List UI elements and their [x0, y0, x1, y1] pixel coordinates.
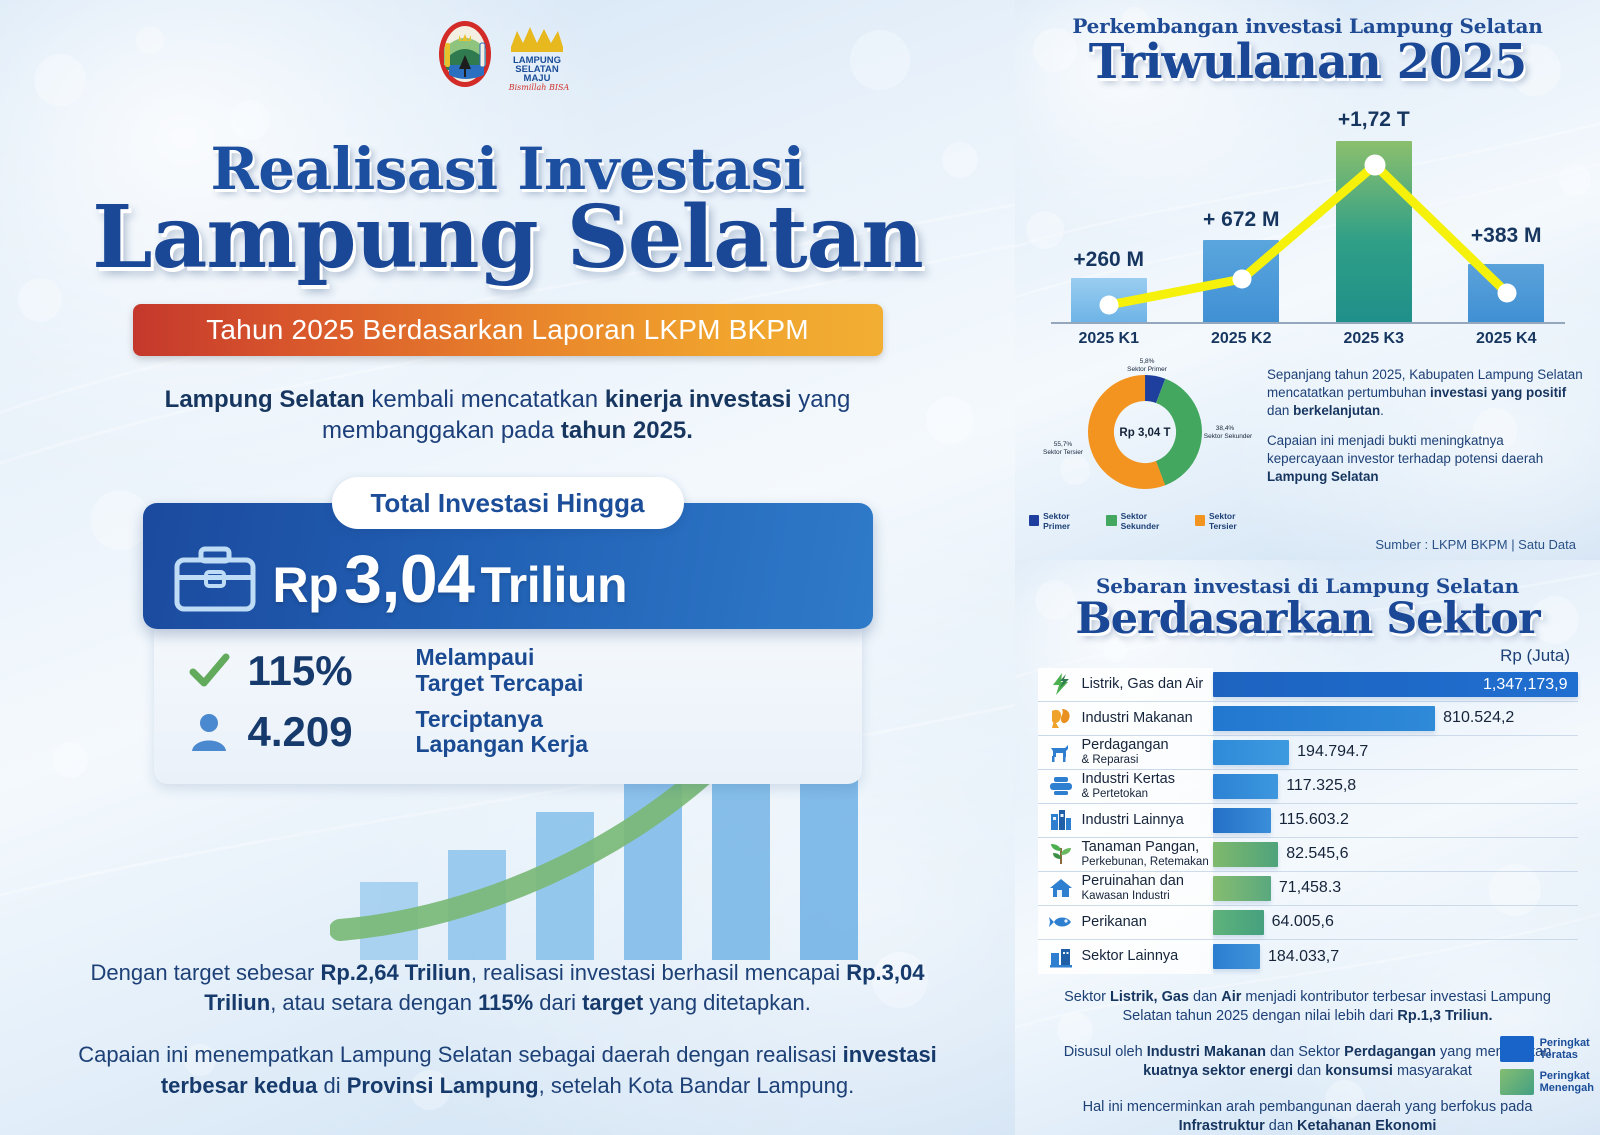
sector-bar-wrap: 810.524,2 [1213, 702, 1578, 735]
table-row: Industri Makanan 810.524,2 [1038, 702, 1578, 736]
sector-name: Sektor Lainnya [1082, 949, 1179, 965]
sector-title: Berdasarkan Sektor [1015, 598, 1600, 642]
sector-value: 82.545,6 [1286, 845, 1348, 863]
sector-bar [1213, 706, 1436, 731]
lampung-selatan-crest-icon [437, 19, 493, 89]
sector-name-line-1: Peruinahan dan [1082, 873, 1184, 889]
logo-row: LAMPUNG SELATAN MAJU Bismillah BISA [0, 0, 1015, 92]
sector-name: Perdagangan & Reparasi [1082, 738, 1169, 766]
sector-bar [1213, 842, 1279, 867]
title-line-2: Lampung Selatan [0, 194, 1015, 282]
sector-caption: Industri Makanan [1038, 702, 1213, 735]
sector-name-line-1: Listrik, Gas dan Air [1082, 676, 1204, 692]
legend-label: Peringkat Teratas [1540, 1037, 1590, 1062]
donut-svg: Rp 3,04 T 5,8% Sektor Primer 38,4% Sekto… [1029, 354, 1261, 504]
quarterly-section: Perkembangan investasi Lampung Selatan T… [1015, 0, 1600, 560]
sector-rank-legend: Peringkat Teratas Peringkat Menengah [1500, 1036, 1594, 1102]
legend-label-line-1: Peringkat [1540, 1037, 1590, 1049]
value-prefix: Rp [273, 556, 339, 614]
table-row: Perikanan 64.005,6 [1038, 906, 1578, 940]
right-panel: Perkembangan investasi Lampung Selatan T… [1015, 0, 1600, 1135]
plant-icon [1048, 842, 1074, 866]
sector-bar-wrap: 71,458.3 [1213, 872, 1578, 905]
quarterly-note: Sepanjang tahun 2025, Kabupaten Lampung … [1267, 354, 1584, 498]
donut-and-note: Rp 3,04 T 5,8% Sektor Primer 38,4% Sekto… [1015, 350, 1600, 531]
total-investment-card: Total Investasi Hingga Rp 3,04 Triliun [143, 477, 873, 784]
svg-text:5,8%: 5,8% [1140, 358, 1155, 365]
sector-caption: Industri Kertas & Pertetokan [1038, 770, 1213, 803]
sector-caption: Perdagangan & Reparasi [1038, 736, 1213, 769]
cart-icon [1048, 740, 1074, 764]
briefcase-icon [173, 545, 257, 613]
sector-note-2: Disusul oleh Industri Makanan dan Sektor… [1041, 1043, 1574, 1082]
legend-swatch [1500, 1036, 1534, 1062]
printer-icon [1048, 774, 1074, 798]
sector-value: 184.033,7 [1268, 948, 1339, 966]
sector-unit-label: Rp (Juta) [1015, 642, 1600, 668]
left-paragraph-1: Dengan target sebesar Rp.2,64 Triliun, r… [68, 958, 948, 1019]
sector-bar-wrap: 82.545,6 [1213, 838, 1578, 871]
sector-caption: Perikanan [1038, 906, 1213, 939]
lead-paragraph: Lampung Selatan kembali mencatatkan kine… [138, 384, 878, 447]
check-icon [188, 650, 230, 692]
sector-bar-wrap: 117.325,8 [1213, 770, 1578, 803]
building-icon [1048, 945, 1074, 969]
quarterly-trend-line [1043, 105, 1573, 350]
quarterly-tick: 2025 K2 [1175, 330, 1308, 348]
svg-text:Sektor Primer: Sektor Primer [1127, 366, 1168, 373]
quarterly-title: Triwulanan 2025 [1015, 38, 1600, 87]
fish-icon [1048, 910, 1074, 934]
sector-caption: Industri Lainnya [1038, 804, 1213, 837]
legend-item: Peringkat Menengah [1500, 1069, 1594, 1095]
sector-value: 64.005,6 [1272, 913, 1334, 931]
left-paragraph-2: Capaian ini menempatkan Lampung Selatan … [68, 1040, 948, 1101]
svg-text:55,7%: 55,7% [1054, 441, 1073, 448]
legend-label-line-1: Peringkat [1540, 1070, 1590, 1082]
ribbon-label: Tahun 2025 Berdasarkan Laporan LKPM BKPM [206, 314, 809, 346]
sector-name: Peruinahan dan Kawasan Industri [1082, 874, 1184, 902]
table-row: Peruinahan dan Kawasan Industri 71,458.3 [1038, 872, 1578, 906]
sector-bar [1213, 876, 1271, 901]
sector-value: 115.603.2 [1279, 811, 1349, 829]
table-row: Listrik, Gas dan Air 1,347,173,9 [1038, 668, 1578, 702]
left-panel: LAMPUNG SELATAN MAJU Bismillah BISA Real… [0, 0, 1015, 1135]
sector-bar-list: Listrik, Gas dan Air 1,347,173,9 [1038, 668, 1578, 974]
legend-label-line-2: Menengah [1540, 1082, 1594, 1094]
sector-bar-wrap: 115.603.2 [1213, 804, 1578, 837]
sector-bar [1213, 740, 1290, 765]
quarterly-note-1: Sepanjang tahun 2025, Kabupaten Lampung … [1267, 366, 1584, 420]
stat-row-jobs: 4.209 Terciptanya Lapangan Kerja [188, 707, 862, 759]
sector-name: Tanaman Pangan, Perkebunan, Retemakan [1082, 840, 1209, 868]
sector-bar-wrap: 194.794.7 [1213, 736, 1578, 769]
stat-value: 115% [248, 647, 398, 695]
svg-text:38,4%: 38,4% [1216, 425, 1235, 432]
table-row: Industri Lainnya 115.603.2 [1038, 804, 1578, 838]
quarterly-source: Sumber : LKPM BKPM | Satu Data [1015, 531, 1600, 552]
donut-legend: Sektor Primer Sektor Sekunder Sektor Ter… [1029, 511, 1261, 531]
sector-bar [1213, 944, 1260, 969]
sector-caption: Sektor Lainnya [1038, 940, 1213, 974]
infographic-poster: LAMPUNG SELATAN MAJU Bismillah BISA Real… [0, 0, 1600, 1135]
sector-caption: Tanaman Pangan, Perkebunan, Retemakan [1038, 838, 1213, 871]
table-row: Tanaman Pangan, Perkebunan, Retemakan 82… [1038, 838, 1578, 872]
factory-icon [1048, 808, 1074, 832]
legend-label-line-2: Teratas [1540, 1049, 1578, 1061]
legend-label: Sektor Sekunder [1121, 511, 1183, 531]
sector-name-line-1: Industri Lainnya [1082, 812, 1184, 828]
sector-section: Sebaran investasi di Lampung Selatan Ber… [1015, 560, 1600, 1135]
sector-note-3: Hal ini mencerminkan arah pembangunan da… [1041, 1098, 1574, 1135]
main-title-block: Realisasi Investasi Lampung Selatan [0, 140, 1015, 282]
sector-note-1: Sektor Listrik, Gas dan Air menjadi kont… [1041, 988, 1574, 1027]
quarterly-tick: 2025 K3 [1308, 330, 1441, 348]
stat-label: Melampaui Target Tercapai [416, 645, 584, 697]
sector-name-line-1: Industri Makanan [1082, 710, 1193, 726]
legend-label: Sektor Tersier [1209, 511, 1261, 531]
legend-item: Sektor Sekunder [1106, 511, 1182, 531]
legend-label: Peringkat Menengah [1540, 1070, 1594, 1095]
sector-bar-wrap: 1,347,173,9 [1213, 668, 1578, 701]
sector-subtitle: Sebaran investasi di Lampung Selatan [1015, 560, 1600, 598]
legend-item: Sektor Primer [1029, 511, 1094, 531]
quarterly-chart: +260 M + 672 M +1,72 T +383 M [1043, 105, 1573, 350]
quarterly-tick-labels: 2025 K1 2025 K2 2025 K3 2025 K4 [1043, 330, 1573, 348]
sector-name: Perikanan [1082, 915, 1147, 931]
sector-bar-wrap: 184.033,7 [1213, 940, 1578, 974]
sector-name-line-1: Perikanan [1082, 914, 1147, 930]
value-number: 3,04 [344, 540, 474, 618]
sector-name: Industri Lainnya [1082, 813, 1184, 829]
legend-swatch [1106, 515, 1116, 526]
quarterly-tick: 2025 K1 [1043, 330, 1176, 348]
quarterly-subtitle: Perkembangan investasi Lampung Selatan [1015, 0, 1600, 38]
legend-item: Peringkat Teratas [1500, 1036, 1594, 1062]
sector-value: 810.524,2 [1443, 709, 1514, 727]
svg-text:Bismillah BISA: Bismillah BISA [507, 83, 569, 91]
sector-name-line-2: Kawasan Industri [1082, 890, 1184, 902]
stat-label-line-1: Melampaui [416, 645, 584, 671]
legend-label: Sektor Primer [1043, 511, 1094, 531]
house-icon [1048, 876, 1074, 900]
stat-label-line-2: Lapangan Kerja [416, 732, 589, 758]
table-row: Industri Kertas & Pertetokan 117.325,8 [1038, 770, 1578, 804]
left-bottom-text: Dengan target sebesar Rp.2,64 Triliun, r… [0, 958, 1015, 1101]
sector-name: Industri Makanan [1082, 711, 1193, 727]
legend-swatch [1195, 515, 1205, 526]
stat-label: Terciptanya Lapangan Kerja [416, 707, 589, 759]
sector-name: Industri Kertas & Pertetokan [1082, 772, 1176, 800]
sector-caption: Peruinahan dan Kawasan Industri [1038, 872, 1213, 905]
sector-bar [1213, 910, 1264, 935]
sector-value: 1,347,173,9 [1483, 676, 1568, 694]
sector-name-line-1: Tanaman Pangan, [1082, 839, 1200, 855]
sector-donut-chart: Rp 3,04 T 5,8% Sektor Primer 38,4% Sekto… [1029, 354, 1261, 531]
sector-value: 194.794.7 [1297, 743, 1368, 761]
sector-name: Listrik, Gas dan Air [1082, 677, 1204, 693]
sector-bar: 1,347,173,9 [1213, 672, 1578, 697]
person-icon [188, 711, 230, 753]
value-unit: Triliun [481, 556, 628, 614]
sector-bar-wrap: 64.005,6 [1213, 906, 1578, 939]
sector-name-line-2: & Reparasi [1082, 754, 1169, 766]
svg-text:Sektor Sekunder: Sektor Sekunder [1204, 433, 1253, 440]
sector-name-line-1: Sektor Lainnya [1082, 948, 1179, 964]
donut-center-label: Rp 3,04 T [1119, 427, 1170, 439]
quarterly-tick: 2025 K4 [1440, 330, 1573, 348]
lampung-selatan-maju-logo-icon: LAMPUNG SELATAN MAJU Bismillah BISA [503, 17, 579, 91]
sector-value: 117.325,8 [1286, 777, 1356, 795]
food-icon [1048, 706, 1074, 730]
stat-label-line-1: Terciptanya [416, 707, 589, 733]
sector-name-line-1: Industri Kertas [1082, 771, 1176, 787]
sector-bar [1213, 774, 1279, 799]
table-row: Sektor Lainnya 184.033,7 [1038, 940, 1578, 974]
stat-row-target: 115% Melampaui Target Tercapai [188, 645, 862, 697]
pill-label: Total Investasi Hingga [370, 488, 644, 519]
sector-bar [1213, 808, 1271, 833]
total-investment-value: Rp 3,04 Triliun [273, 540, 628, 618]
stat-label-line-2: Target Tercapai [416, 671, 584, 697]
stat-value: 4.209 [248, 708, 398, 756]
stats-card: 115% Melampaui Target Tercapai 4.209 [154, 629, 862, 784]
sector-value: 71,458.3 [1279, 879, 1341, 897]
sector-name-line-2: & Pertetokan [1082, 788, 1176, 800]
svg-text:Sektor Tersier: Sektor Tersier [1043, 449, 1084, 456]
table-row: Perdagangan & Reparasi 194.794.7 [1038, 736, 1578, 770]
legend-swatch [1029, 515, 1039, 526]
sector-caption: Listrik, Gas dan Air [1038, 668, 1213, 701]
subtitle-ribbon: Tahun 2025 Berdasarkan Laporan LKPM BKPM [133, 304, 883, 356]
legend-item: Sektor Tersier [1195, 511, 1261, 531]
sector-name-line-1: Perdagangan [1082, 737, 1169, 753]
quarterly-note-2: Capaian ini menjadi bukti meningkatnya k… [1267, 432, 1584, 486]
sector-name-line-2: Perkebunan, Retemakan [1082, 856, 1209, 868]
legend-swatch [1500, 1069, 1534, 1095]
lightning-icon [1048, 672, 1074, 696]
total-investment-pill: Total Investasi Hingga [332, 477, 684, 529]
